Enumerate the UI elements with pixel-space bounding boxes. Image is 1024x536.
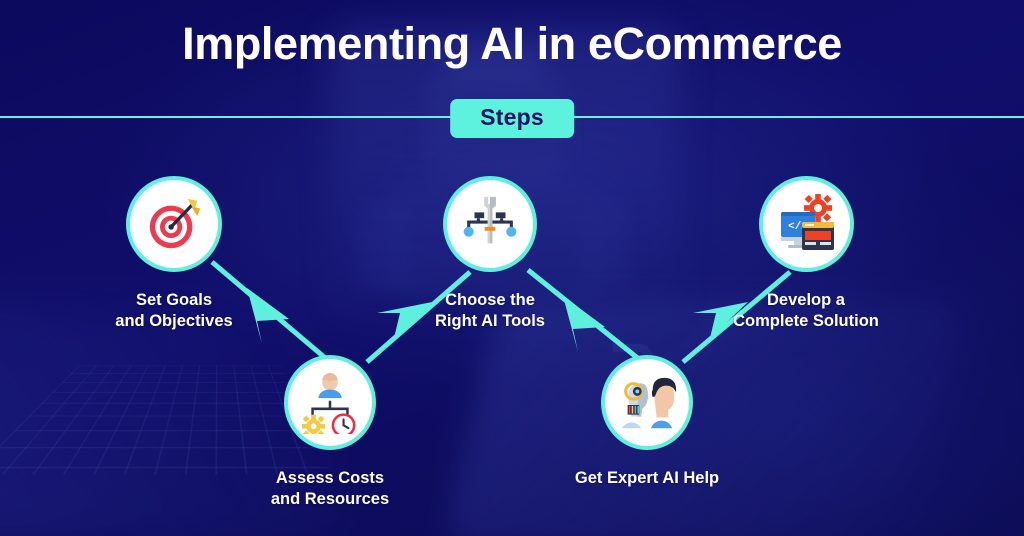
step-1-bubble[interactable]	[126, 176, 222, 272]
infographic-canvas: BU Implementing AI in eCommerce Steps	[0, 0, 1024, 536]
person-gear-clock-icon	[299, 372, 361, 434]
page-title: Implementing AI in eCommerce	[0, 20, 1024, 67]
steps-badge: Steps	[450, 99, 574, 138]
step-4-label: Get Expert AI Help	[547, 468, 747, 489]
wrench-network-icon	[459, 193, 521, 255]
step-2-bubble[interactable]	[284, 355, 376, 450]
robot-human-icon	[616, 372, 678, 434]
step-5-bubble[interactable]: </>	[759, 176, 854, 272]
step-5-label: Develop a Complete Solution	[706, 290, 906, 332]
connector-arrows	[0, 0, 1024, 536]
step-4-bubble[interactable]	[601, 355, 693, 450]
step-2-label: Assess Costs and Resources	[230, 468, 430, 510]
step-3-label: Choose the Right AI Tools	[390, 290, 590, 332]
step-1-label: Set Goals and Objectives	[74, 290, 274, 332]
target-arrow-icon	[143, 193, 205, 255]
step-3-bubble[interactable]	[443, 176, 537, 272]
code-window-gear-icon: </>	[775, 192, 839, 256]
